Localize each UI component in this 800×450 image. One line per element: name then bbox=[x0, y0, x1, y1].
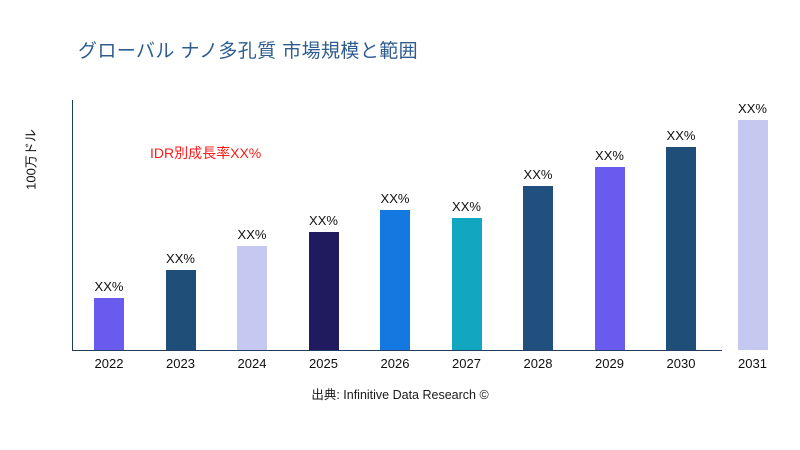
x-tick-2024: 2024 bbox=[229, 356, 275, 371]
bar-group[interactable]: XX% bbox=[301, 214, 347, 350]
bar-group[interactable]: XX% bbox=[229, 228, 275, 350]
bar-2024[interactable] bbox=[237, 246, 267, 350]
bar-group[interactable]: XX% bbox=[86, 280, 132, 350]
growth-rate-annotation: IDR別成長率XX% bbox=[150, 143, 261, 163]
bar-value-label: XX% bbox=[95, 280, 124, 293]
x-tick-2025: 2025 bbox=[301, 356, 347, 371]
bar-value-label: XX% bbox=[595, 149, 624, 162]
bar-value-label: XX% bbox=[381, 192, 410, 205]
bar-2025[interactable] bbox=[309, 232, 339, 350]
bar-2028[interactable] bbox=[523, 186, 553, 350]
x-tick-2023: 2023 bbox=[158, 356, 204, 371]
bar-value-label: XX% bbox=[452, 200, 481, 213]
bar-2026[interactable] bbox=[380, 210, 410, 350]
bar-value-label: XX% bbox=[166, 252, 195, 265]
bar-group[interactable]: XX% bbox=[658, 129, 704, 350]
bar-group[interactable]: XX% bbox=[515, 168, 561, 350]
bar-value-label: XX% bbox=[667, 129, 696, 142]
bar-2030[interactable] bbox=[666, 147, 696, 350]
bar-2027[interactable] bbox=[452, 218, 482, 350]
y-axis-label: 100万ドル bbox=[21, 100, 40, 220]
x-tick-2026: 2026 bbox=[372, 356, 418, 371]
bar-group[interactable]: XX% bbox=[372, 192, 418, 350]
x-tick-2030: 2030 bbox=[658, 356, 704, 371]
bar-2029[interactable] bbox=[595, 167, 625, 350]
bar-value-label: XX% bbox=[524, 168, 553, 181]
bar-2022[interactable] bbox=[94, 298, 124, 350]
chart-title: グローバル ナノ多孔質 市場規模と範囲 bbox=[78, 36, 418, 63]
bar-value-label: XX% bbox=[738, 102, 767, 115]
bar-group[interactable]: XX% bbox=[158, 252, 204, 350]
bar-group[interactable]: XX% bbox=[587, 149, 633, 350]
y-axis-line bbox=[72, 100, 73, 350]
x-tick-2022: 2022 bbox=[86, 356, 132, 371]
x-tick-2027: 2027 bbox=[444, 356, 490, 371]
x-tick-2028: 2028 bbox=[515, 356, 561, 371]
x-tick-2029: 2029 bbox=[587, 356, 633, 371]
bar-group[interactable]: XX% bbox=[730, 102, 776, 350]
source-note: 出典: Infinitive Data Research © bbox=[0, 384, 800, 403]
x-axis-line bbox=[72, 350, 722, 351]
bar-2023[interactable] bbox=[166, 270, 196, 350]
bar-2031[interactable] bbox=[738, 120, 768, 350]
chart-container: グローバル ナノ多孔質 市場規模と範囲 100万ドル XX%XX%XX%XX%X… bbox=[0, 0, 800, 450]
bar-group[interactable]: XX% bbox=[444, 200, 490, 350]
bar-value-label: XX% bbox=[238, 228, 267, 241]
x-tick-2031: 2031 bbox=[730, 356, 776, 371]
plot-area: XX%XX%XX%XX%XX%XX%XX%XX%XX%XX% 202220232… bbox=[72, 100, 792, 350]
bar-value-label: XX% bbox=[309, 214, 338, 227]
